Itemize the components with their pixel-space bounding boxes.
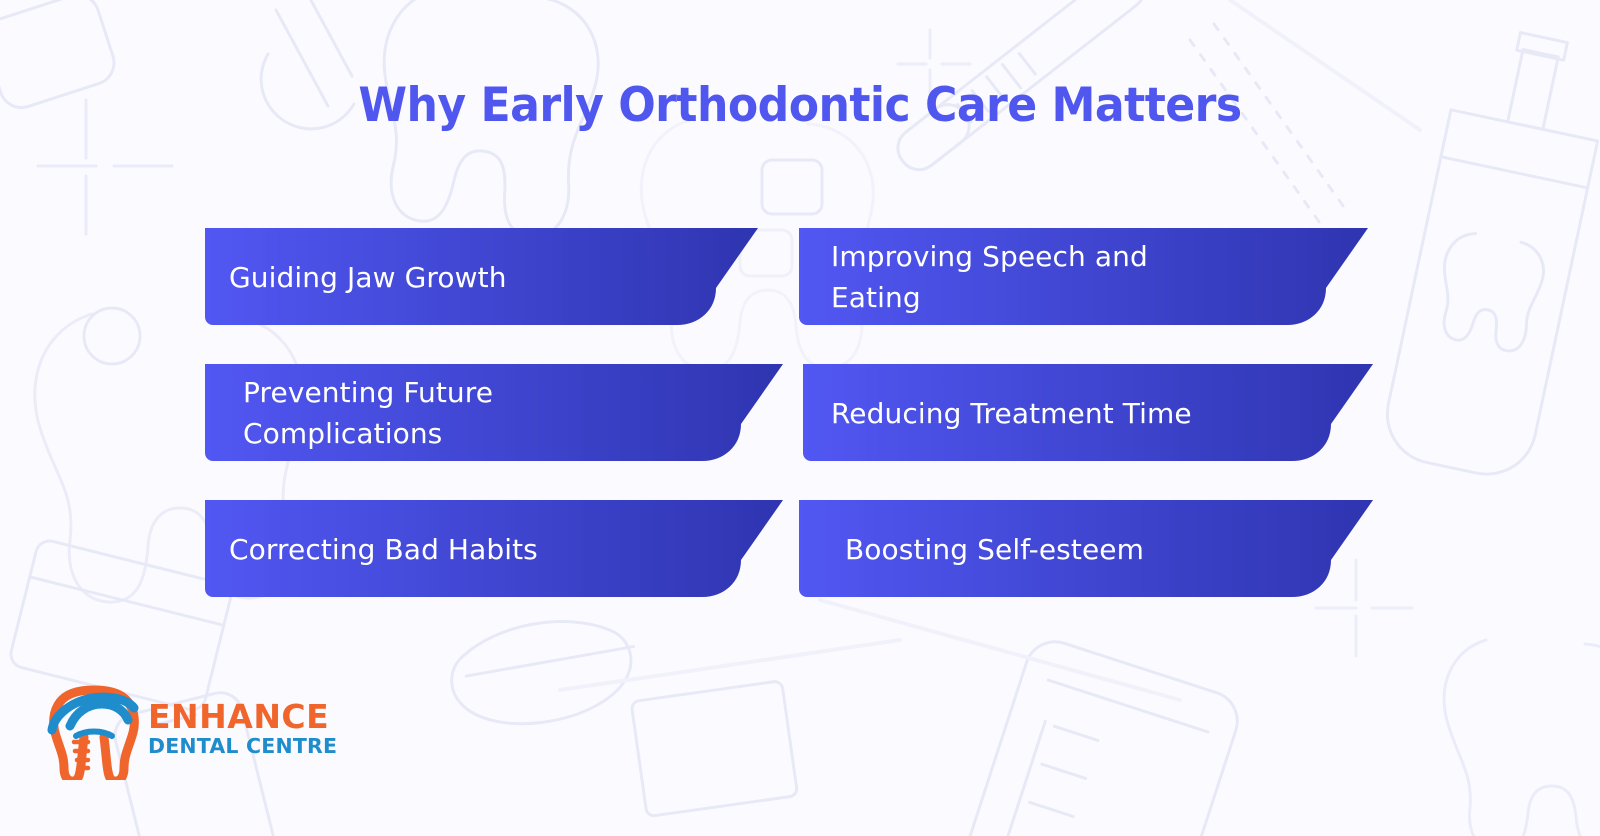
ribbon-item-guiding-jaw-growth[interactable]: Guiding Jaw Growth xyxy=(205,226,795,330)
ribbon-item-correcting-bad-habits[interactable]: Correcting Bad Habits xyxy=(205,498,795,602)
ribbon-label: Preventing Future Complications xyxy=(205,362,675,466)
ribbon-label: Reducing Treatment Time xyxy=(795,362,1265,466)
ribbon-row: Correcting Bad Habits Boosting Self-este… xyxy=(205,498,1385,602)
tooth-swoosh-icon xyxy=(46,676,142,780)
brand-logo[interactable]: ENHANCE DENTAL CENTRE xyxy=(46,676,337,780)
ribbon-row: Guiding Jaw Growth Improving Speech and … xyxy=(205,226,1385,330)
ribbon-item-boosting-self-esteem[interactable]: Boosting Self-esteem xyxy=(795,498,1385,602)
benefits-ribbon-grid: Guiding Jaw Growth Improving Speech and … xyxy=(205,226,1385,602)
logo-name-primary: ENHANCE xyxy=(148,700,337,733)
ribbon-item-reducing-treatment-time[interactable]: Reducing Treatment Time xyxy=(795,362,1385,466)
ribbon-item-preventing-future-complications[interactable]: Preventing Future Complications xyxy=(205,362,795,466)
ribbon-item-improving-speech-and-eating[interactable]: Improving Speech and Eating xyxy=(795,226,1385,330)
ribbon-label: Improving Speech and Eating xyxy=(795,226,1265,330)
logo-name-secondary: DENTAL CENTRE xyxy=(148,736,337,757)
ribbon-label: Boosting Self-esteem xyxy=(795,498,1265,602)
ribbon-row: Preventing Future Complications Reducing… xyxy=(205,362,1385,466)
ribbon-label: Correcting Bad Habits xyxy=(205,498,675,602)
page-title: Why Early Orthodontic Care Matters xyxy=(48,78,1552,133)
logo-wordmark: ENHANCE DENTAL CENTRE xyxy=(148,700,337,757)
ribbon-label: Guiding Jaw Growth xyxy=(205,226,675,330)
